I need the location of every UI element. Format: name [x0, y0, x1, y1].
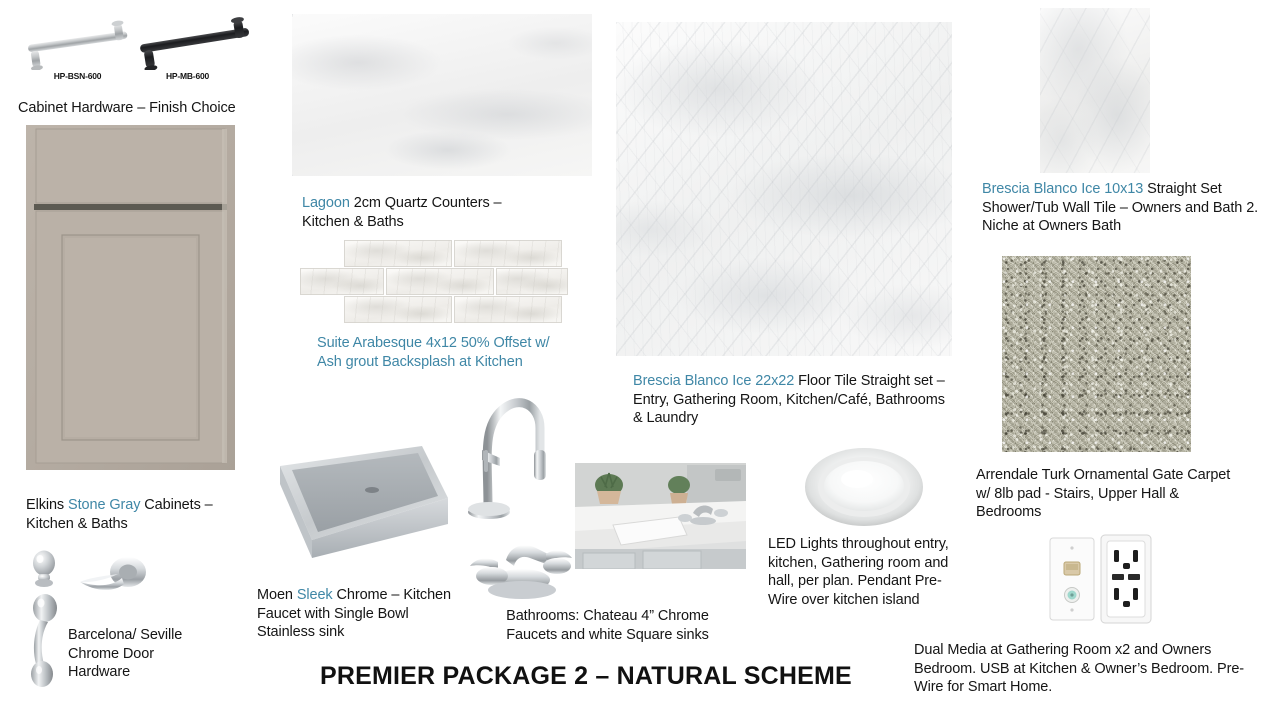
- cabinets-color-name: Stone Gray: [68, 497, 140, 513]
- cabinets-caption: Elkins Stone Gray Cabinets – Kitchen & B…: [26, 496, 241, 533]
- bath-centerset-faucet-image: [462, 532, 574, 604]
- cabinets-brand: Elkins: [26, 497, 68, 513]
- backsplash-tile-swatch: [300, 240, 568, 324]
- wall-tile-swatch: [1040, 8, 1150, 173]
- cabinet-pull-brushed-nickel-image: [18, 18, 138, 70]
- cabinet-pull-brushed-nickel-sku: HP-BSN-600: [30, 71, 125, 81]
- bath-faucets-caption: Bathrooms: Chateau 4” Chrome Faucets and…: [495, 607, 720, 644]
- floor-tile-caption: Brescia Blanco Ice 22x22 Floor Tile Stra…: [633, 372, 953, 428]
- lighting-caption: LED Lights throughout entry, kitchen, Ga…: [768, 535, 968, 609]
- media-wall-plate-image: [1048, 536, 1096, 622]
- wall-tile-caption: Brescia Blanco Ice 10x13 Straight Set Sh…: [982, 180, 1262, 236]
- bathroom-vanity-photo: [575, 463, 746, 569]
- carpet-caption: Arrendale Turk Ornamental Gate Carpet w/…: [976, 466, 1246, 522]
- led-downlight-image: [805, 447, 923, 527]
- counters-caption: Lagoon 2cm Quartz Counters – Kitchen & B…: [302, 194, 552, 231]
- usb-outlet-wall-plate-image: [1100, 534, 1152, 624]
- media-caption: Dual Media at Gathering Room x2 and Owne…: [914, 641, 1254, 697]
- carpet-swatch: [1002, 256, 1191, 452]
- cabinet-pull-matte-black-image: [130, 16, 260, 70]
- kitchen-faucet-model: Sleek: [297, 587, 333, 603]
- board-title: PREMIER PACKAGE 2 – NATURAL SCHEME: [320, 662, 852, 691]
- door-lever-image: [72, 552, 150, 600]
- kitchen-faucet-caption: Moen Sleek Chrome – Kitchen Faucet with …: [257, 586, 452, 642]
- quartz-counter-swatch: [292, 14, 592, 176]
- backsplash-caption: Suite Arabesque 4x12 50% Offset w/ Ash g…: [317, 334, 557, 371]
- floor-tile-swatch: [616, 22, 952, 356]
- cabinet-hardware-caption: Cabinet Hardware – Finish Choice: [18, 99, 268, 118]
- design-selection-board: HP-BSN-600 HP-MB-600 Cabinet Hardware – …: [0, 0, 1269, 713]
- cabinet-pull-matte-black-sku: HP-MB-600: [140, 71, 235, 81]
- door-handleset-image: [24, 592, 66, 690]
- wall-tile-product: Brescia Blanco Ice 10x13: [982, 181, 1143, 197]
- door-knob-image: [26, 548, 62, 590]
- floor-tile-product: Brescia Blanco Ice 22x22: [633, 373, 794, 389]
- counters-color-name: Lagoon: [302, 195, 350, 211]
- kitchen-pulldown-faucet-image: [458, 388, 550, 528]
- cabinet-door-swatch: [26, 125, 235, 470]
- kitchen-sink-image: [272, 440, 452, 562]
- kitchen-faucet-brand: Moen: [257, 587, 297, 603]
- door-hardware-caption: Barcelona/ Seville Chrome Door Hardware: [68, 626, 190, 682]
